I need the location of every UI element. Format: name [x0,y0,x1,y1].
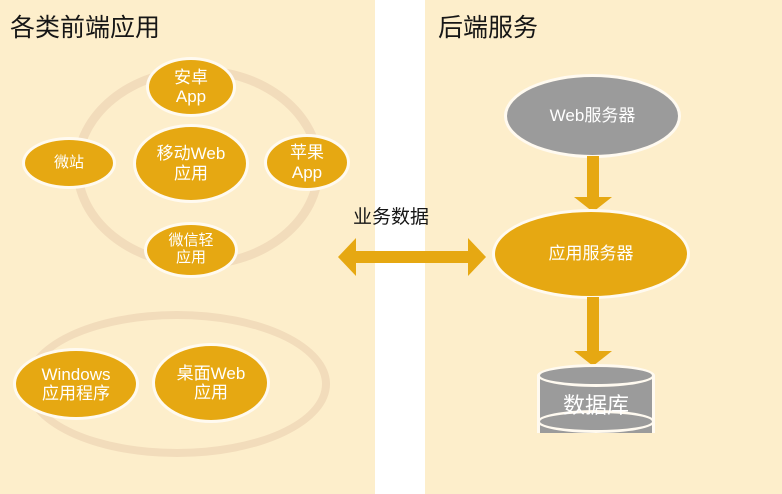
node-app-server[interactable]: 应用服务器 [492,209,690,299]
node-database-label: 数据库 [537,378,655,430]
node-web-server-label: Web服务器 [546,106,640,125]
node-windows-application[interactable]: Windows应用程序 [13,348,139,420]
node-weizhan[interactable]: 微站 [22,137,116,189]
connector-label-business-data: 业务数据 [353,202,429,229]
arrow-head-left-icon [338,238,356,276]
node-app-server-label: 应用服务器 [545,244,638,263]
arrow-app-server-to-database [574,297,612,367]
backend-panel-title: 后端服务 [438,8,538,44]
node-wechat-lite-app[interactable]: 微信轻应用 [144,222,238,278]
arrow-shaft [355,251,469,263]
node-android-app[interactable]: 安卓App [146,57,236,117]
node-mobile-web-app[interactable]: 移动Web应用 [133,124,249,203]
node-windows-application-label: Windows应用程序 [38,365,115,403]
node-weizhan-label: 微站 [50,155,88,172]
node-web-server[interactable]: Web服务器 [504,74,681,158]
arrow-business-data-bidirectional [338,238,486,276]
node-apple-app-label: 苹果App [286,143,328,181]
node-database[interactable]: 数据库 [537,364,655,444]
arrow-head-right-icon [468,238,486,276]
arrow-web-server-to-app-server [574,156,612,212]
node-mobile-web-app-label: 移动Web应用 [153,144,230,182]
frontend-panel-title: 各类前端应用 [10,8,160,44]
node-wechat-lite-app-label: 微信轻应用 [164,233,217,267]
arrow-shaft [587,156,599,198]
diagram-canvas: 各类前端应用 后端服务 安卓App 微站 移动Web应用 苹果App 微信轻应用… [0,0,782,494]
node-android-app-label: 安卓App [170,68,212,106]
node-desktop-web-app[interactable]: 桌面Web应用 [152,343,270,423]
node-apple-app[interactable]: 苹果App [264,134,350,191]
node-desktop-web-app-label: 桌面Web应用 [173,364,250,402]
arrow-shaft [587,297,599,352]
